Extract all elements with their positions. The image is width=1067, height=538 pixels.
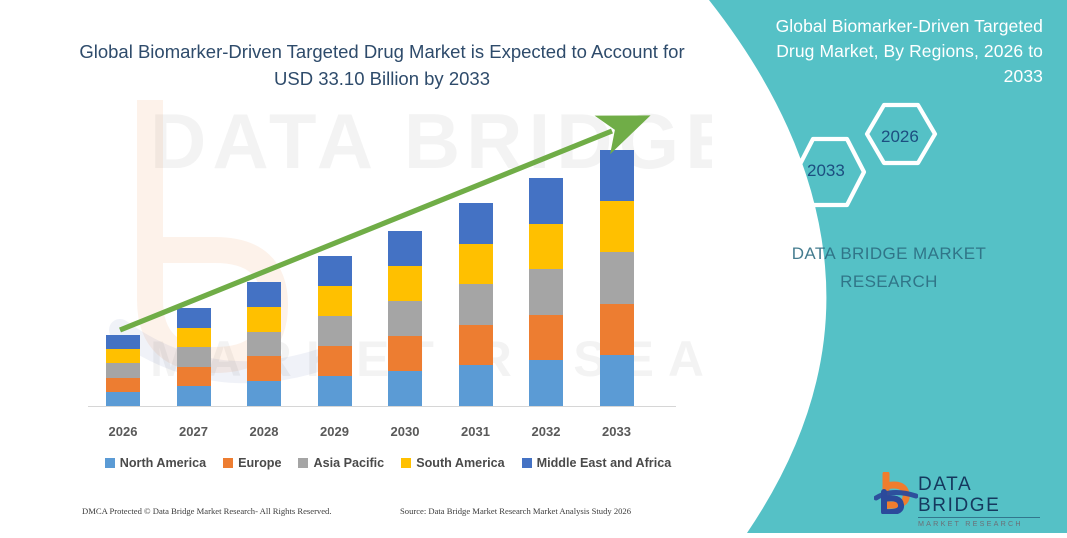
bar-segment xyxy=(106,335,140,349)
x-axis-line xyxy=(88,406,676,407)
bar-segment xyxy=(529,178,563,224)
bar-segment xyxy=(177,328,211,348)
side-panel: Global Biomarker-Driven Targeted Drug Ma… xyxy=(687,0,1067,533)
bar-segment xyxy=(318,256,352,286)
bar-segment xyxy=(247,381,281,406)
x-axis-label-2030: 2030 xyxy=(375,424,435,439)
bar-segment xyxy=(247,356,281,381)
bar-2026 xyxy=(106,335,140,406)
side-panel-brand: DATA BRIDGE MARKET RESEARCH xyxy=(739,240,1039,296)
legend-swatch-icon xyxy=(223,458,233,468)
bar-segment xyxy=(388,371,422,406)
bar-2030 xyxy=(388,231,422,406)
bar-segment xyxy=(318,316,352,346)
bar-segment xyxy=(318,376,352,406)
bar-segment xyxy=(459,203,493,244)
bar-segment xyxy=(106,349,140,363)
x-axis-label-2033: 2033 xyxy=(587,424,647,439)
bar-segment xyxy=(106,378,140,392)
bar-segment xyxy=(529,315,563,361)
bar-segment xyxy=(177,386,211,406)
legend-label: North America xyxy=(120,456,206,470)
bar-segment xyxy=(177,308,211,328)
bar-segment xyxy=(529,224,563,270)
bar-segment xyxy=(177,367,211,387)
bar-segment xyxy=(529,269,563,315)
bar-2032 xyxy=(529,178,563,406)
legend-label: South America xyxy=(416,456,504,470)
legend-item[interactable]: Middle East and Africa xyxy=(522,456,672,470)
bar-segment xyxy=(388,266,422,301)
side-panel-brand-line-1: DATA BRIDGE MARKET xyxy=(739,240,1039,268)
legend-item[interactable]: North America xyxy=(105,456,206,470)
legend-label: Asia Pacific xyxy=(313,456,384,470)
x-axis-label-2027: 2027 xyxy=(164,424,224,439)
bar-segment xyxy=(388,336,422,371)
x-axis-label-2028: 2028 xyxy=(234,424,294,439)
bar-segment xyxy=(459,325,493,366)
legend-swatch-icon xyxy=(298,458,308,468)
bar-2027 xyxy=(177,308,211,406)
bar-segment xyxy=(600,355,634,406)
legend-label: Middle East and Africa xyxy=(537,456,672,470)
footer: DMCA Protected © Data Bridge Market Rese… xyxy=(0,506,712,528)
x-axis-labels: 20262027202820292030203120322033 xyxy=(0,424,712,444)
logo-subtitle: MARKET RESEARCH xyxy=(918,519,1054,529)
x-axis-label-2029: 2029 xyxy=(305,424,365,439)
bar-segment xyxy=(600,304,634,355)
logo-title: DATA BRIDGE xyxy=(918,474,1054,516)
logo-divider xyxy=(918,517,1040,518)
bar-segment xyxy=(177,347,211,367)
infographic-canvas: DATA BRIDGE MARKET RESEARCH Global Bioma… xyxy=(0,0,1067,533)
legend-item[interactable]: Europe xyxy=(223,456,281,470)
legend-item[interactable]: South America xyxy=(401,456,504,470)
legend-label: Europe xyxy=(238,456,281,470)
bar-segment xyxy=(388,301,422,336)
legend-item[interactable]: Asia Pacific xyxy=(298,456,384,470)
x-axis-label-2031: 2031 xyxy=(446,424,506,439)
bar-segment xyxy=(459,284,493,325)
bar-segment xyxy=(318,286,352,316)
bar-segment xyxy=(600,150,634,201)
bar-2028 xyxy=(247,282,281,406)
footer-source: Source: Data Bridge Market Research Mark… xyxy=(400,506,631,516)
x-axis-label-2026: 2026 xyxy=(93,424,153,439)
side-panel-title: Global Biomarker-Driven Targeted Drug Ma… xyxy=(743,14,1043,89)
company-logo: DATA BRIDGE MARKET RESEARCH xyxy=(874,470,1054,518)
bar-segment xyxy=(106,363,140,377)
bar-segment xyxy=(247,332,281,357)
bar-segment xyxy=(529,360,563,406)
bar-segment xyxy=(459,365,493,406)
x-axis-label-2032: 2032 xyxy=(516,424,576,439)
bar-segment xyxy=(388,231,422,266)
bar-2033 xyxy=(600,150,634,406)
chart-plot-area xyxy=(0,0,712,533)
bar-2029 xyxy=(318,256,352,406)
footer-copyright: DMCA Protected © Data Bridge Market Rese… xyxy=(82,506,332,516)
bar-segment xyxy=(600,201,634,252)
legend-swatch-icon xyxy=(401,458,411,468)
legend-swatch-icon xyxy=(522,458,532,468)
side-panel-brand-line-2: RESEARCH xyxy=(739,268,1039,296)
bar-2031 xyxy=(459,203,493,406)
logo-mark-icon xyxy=(874,472,918,514)
bar-segment xyxy=(459,244,493,285)
bar-segment xyxy=(106,392,140,406)
bar-segment xyxy=(600,252,634,303)
bar-segment xyxy=(247,307,281,332)
bar-segment xyxy=(318,346,352,376)
legend-swatch-icon xyxy=(105,458,115,468)
chart-legend: North AmericaEuropeAsia PacificSouth Ame… xyxy=(88,456,688,470)
bar-segment xyxy=(247,282,281,307)
logo-text: DATA BRIDGE MARKET RESEARCH xyxy=(918,474,1054,529)
